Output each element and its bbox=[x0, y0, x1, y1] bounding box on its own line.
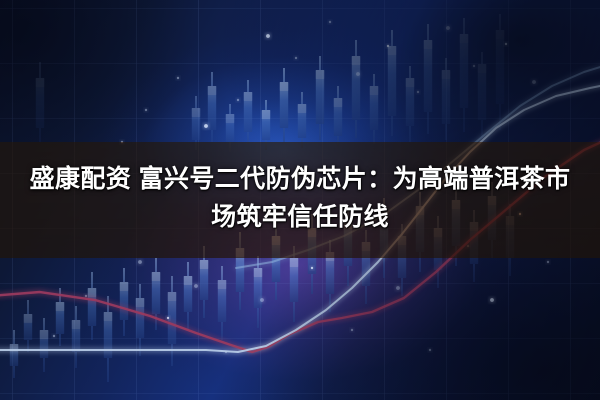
candlestick bbox=[442, 58, 450, 140]
candlestick bbox=[136, 284, 144, 356]
candlestick bbox=[72, 306, 80, 368]
candlestick bbox=[406, 66, 414, 142]
candlestick bbox=[104, 296, 112, 382]
banner-image: 盛康配资 富兴号二代防伪芯片：为高端普洱茶市 场筑牢信任防线 bbox=[0, 0, 600, 400]
candlestick bbox=[120, 268, 128, 336]
candlestick bbox=[244, 80, 252, 144]
candlestick bbox=[424, 24, 432, 134]
sparkle-dot bbox=[547, 261, 549, 263]
sparkle-dot bbox=[145, 109, 147, 111]
candlestick bbox=[168, 276, 176, 366]
sparkle-dot bbox=[446, 26, 450, 30]
candlestick bbox=[478, 52, 486, 138]
candlestick bbox=[280, 68, 288, 142]
sparkle-dot bbox=[311, 267, 313, 269]
candlestick bbox=[40, 318, 48, 372]
candlestick bbox=[88, 272, 96, 340]
candlestick bbox=[316, 56, 324, 140]
sparkle-dot bbox=[204, 124, 208, 128]
sparkle-dot bbox=[387, 45, 389, 47]
sparkle-dot bbox=[167, 317, 169, 319]
sparkle-dot bbox=[356, 72, 360, 76]
title-line-2: 场筑牢信任防线 bbox=[18, 198, 582, 236]
sparkle-dot bbox=[351, 329, 353, 331]
sparkle-dot bbox=[237, 99, 239, 101]
sparkle-dot bbox=[85, 295, 87, 297]
candlestick bbox=[334, 86, 342, 146]
candlestick bbox=[460, 18, 468, 132]
title-line-1: 盛康配资 富兴号二代防伪芯片：为高端普洱茶市 bbox=[18, 160, 582, 198]
sparkle-dot bbox=[260, 298, 264, 302]
candlestick bbox=[352, 40, 360, 138]
candlestick bbox=[298, 92, 306, 148]
sparkle-dot bbox=[194, 284, 198, 288]
sparkle-dot bbox=[505, 43, 507, 45]
candlestick bbox=[184, 262, 192, 330]
sparkle-dot bbox=[396, 286, 400, 290]
sparkle-dot bbox=[490, 298, 494, 302]
candlestick bbox=[24, 300, 32, 352]
sparkle-dot bbox=[429, 349, 431, 351]
sparkle-dot bbox=[295, 57, 297, 59]
sparkle-dot bbox=[417, 91, 419, 93]
sparkle-dot bbox=[138, 260, 142, 264]
sparkle-dot bbox=[177, 77, 179, 79]
candlestick bbox=[56, 288, 64, 346]
candlestick bbox=[254, 256, 262, 328]
candlestick bbox=[218, 266, 226, 340]
sparkle-dot bbox=[266, 34, 270, 38]
sparkle-dot bbox=[473, 65, 475, 67]
sparkle-dot bbox=[329, 21, 331, 23]
candlestick bbox=[370, 74, 378, 144]
sparkle-dot bbox=[53, 335, 55, 337]
candlestick bbox=[208, 72, 216, 142]
candlestick bbox=[10, 330, 18, 378]
candlestick bbox=[496, 14, 504, 130]
sparkle-dot bbox=[532, 80, 536, 84]
candlestick bbox=[36, 62, 44, 142]
title-block: 盛康配资 富兴号二代防伪芯片：为高端普洱茶市 场筑牢信任防线 bbox=[0, 160, 600, 236]
